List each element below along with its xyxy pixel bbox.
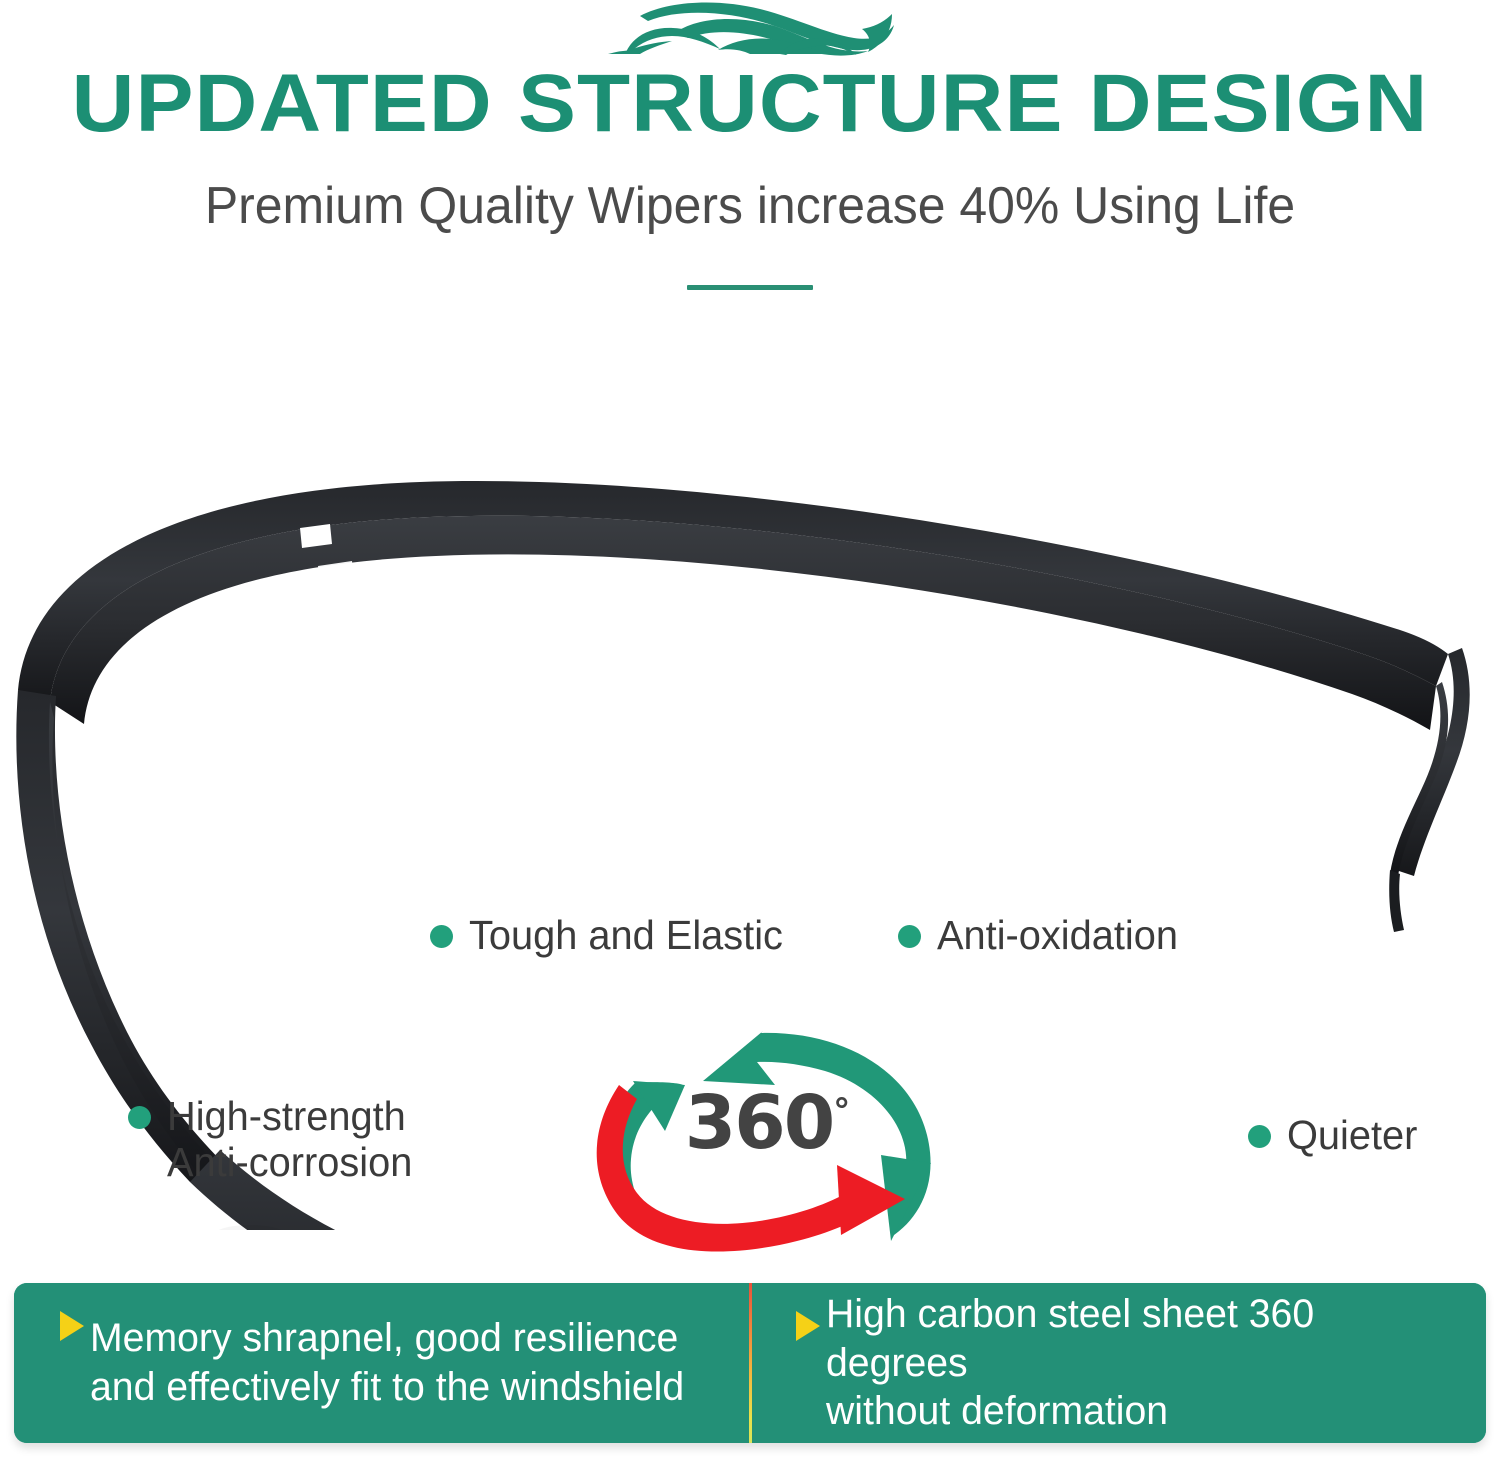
page-title: UPDATED STRUCTURE DESIGN <box>0 62 1500 146</box>
sports-car-silhouette-icon <box>600 2 900 62</box>
feature-label: Tough and Elastic <box>469 913 783 959</box>
feature-banner-row: Memory shrapnel, good resilience and eff… <box>14 1283 1486 1443</box>
brand-car-logo <box>0 2 1500 64</box>
badge-value: 360° <box>575 1086 960 1160</box>
title-divider-rule <box>687 285 813 290</box>
rotation-360-badge: 360° <box>575 1023 960 1258</box>
feature-quieter: Quieter <box>1248 1113 1421 1159</box>
bullet-dot-icon <box>1248 1125 1271 1148</box>
yellow-triangle-bullet-icon <box>796 1311 820 1341</box>
feature-label: Quieter <box>1287 1113 1417 1159</box>
page-subtitle: Premium Quality Wipers increase 40% Usin… <box>30 176 1470 236</box>
bullet-dot-icon <box>128 1106 151 1129</box>
banner-high-carbon-steel: High carbon steel sheet 360 degrees with… <box>750 1283 1486 1443</box>
banner-memory-shrapnel: Memory shrapnel, good resilience and eff… <box>14 1283 750 1443</box>
yellow-triangle-bullet-icon <box>60 1311 84 1341</box>
banner-text: High carbon steel sheet 360 degrees with… <box>826 1290 1453 1436</box>
feature-anti-oxidation: Anti-oxidation <box>898 913 1185 959</box>
bullet-dot-icon <box>898 925 921 948</box>
product-image-area: Tough and Elastic Anti-oxidation High-st… <box>0 330 1500 1230</box>
banner-gradient-divider <box>749 1283 752 1443</box>
feature-label: High-strength Anti-corrosion <box>167 1094 412 1186</box>
feature-tough-and-elastic: Tough and Elastic <box>430 913 793 959</box>
bullet-dot-icon <box>430 925 453 948</box>
banner-text: Memory shrapnel, good resilience and eff… <box>90 1314 684 1412</box>
feature-high-strength-anti-corrosion: High-strength Anti-corrosion <box>128 1094 420 1186</box>
feature-label: Anti-oxidation <box>937 913 1178 959</box>
